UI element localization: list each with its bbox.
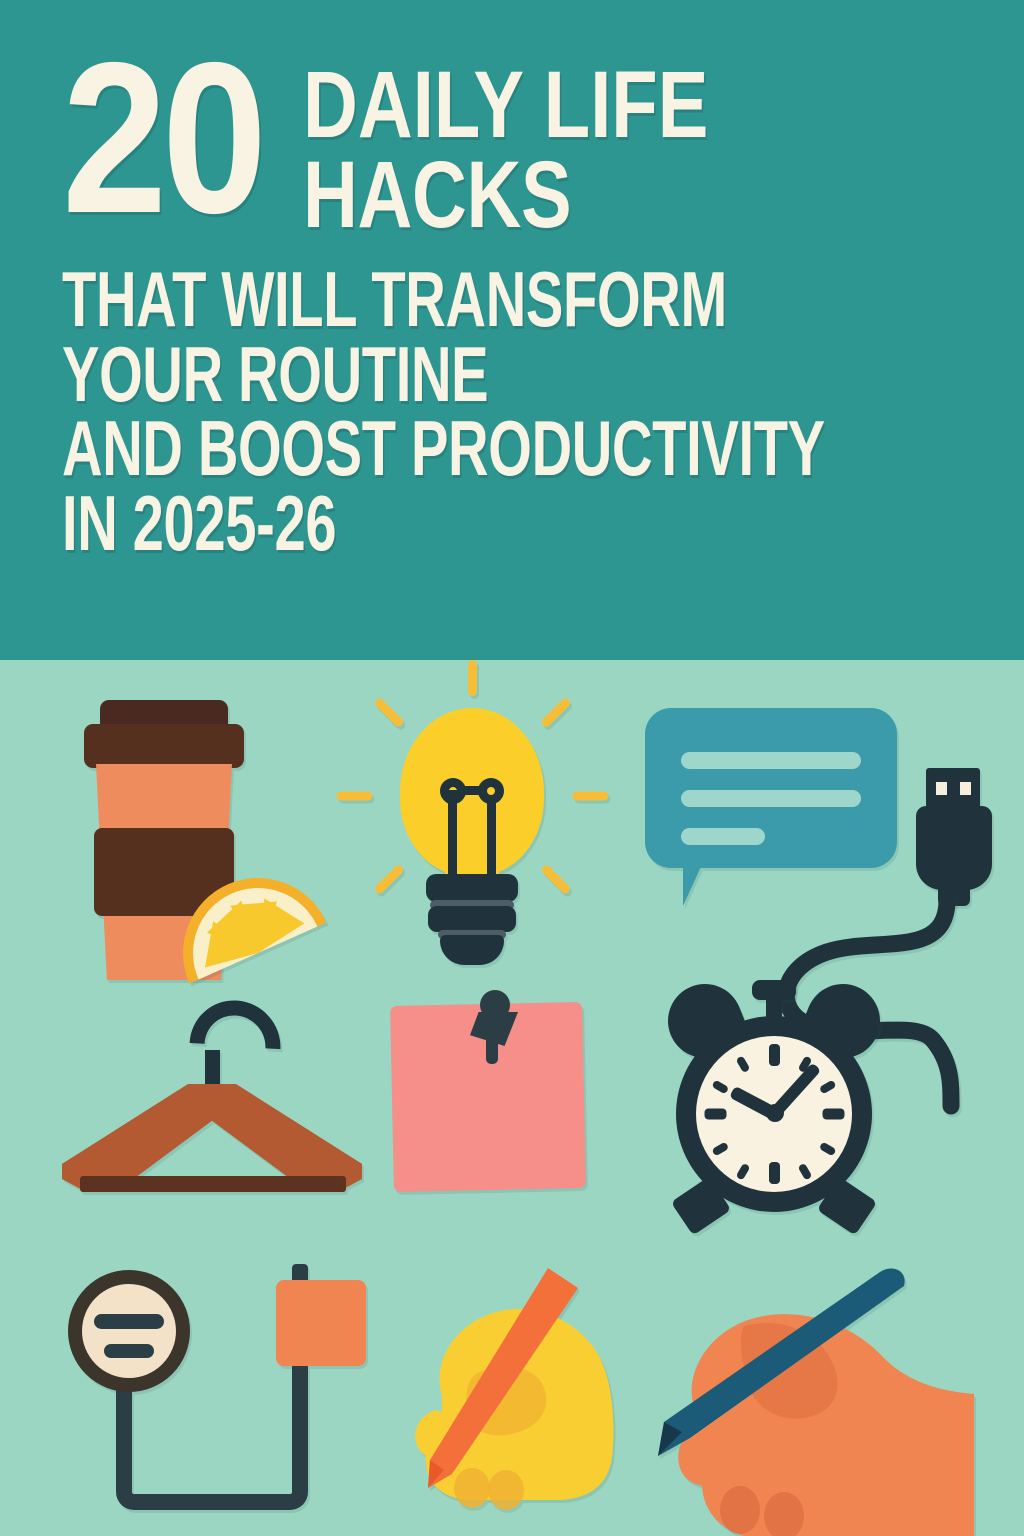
gauge-cable [116, 1382, 308, 1510]
poster-root: 20 DAILY LIFE HACKS THAT WILL TRANSFORM … [0, 0, 1024, 1536]
title-headline-stack: DAILY LIFE HACKS [303, 52, 810, 237]
gauge-dial-bar-short [104, 1344, 154, 1358]
speech-bubble-text-line [681, 828, 765, 845]
title-line-daily-life: DAILY LIFE [303, 64, 708, 148]
clock-tick-10 [711, 1080, 729, 1095]
cup-lid [84, 724, 244, 768]
lemon-slice-icon [183, 850, 348, 980]
bulb-base-tip [440, 935, 504, 965]
bulb-ray [373, 697, 405, 729]
title-line-productivity: AND BOOST PRODUCTIVITY [62, 414, 717, 483]
title-line-year: IN 2025-26 [62, 489, 717, 558]
light-bulb-icon [348, 660, 598, 970]
pushpin-needle [486, 1038, 498, 1064]
title-line-routine: YOUR ROUTINE [62, 340, 717, 409]
hand-finger [720, 1486, 760, 1534]
speech-bubble-tail [683, 858, 735, 906]
bulb-base-ring [428, 906, 516, 932]
hanger-crossbar [80, 1176, 346, 1192]
bulb-ray [337, 792, 373, 801]
speech-bubble-body [645, 708, 897, 868]
bulb-filament-leg-right [487, 800, 496, 878]
clock-tick-7 [736, 1163, 751, 1181]
bulb-ray [573, 792, 609, 801]
usb-contact-pin [936, 782, 947, 795]
gauge-dial [68, 1270, 190, 1392]
bulb-filament-bridge [461, 786, 485, 795]
icon-grid [0, 660, 1024, 1536]
usb-tip [926, 768, 980, 808]
writing-hand-yellow-icon [372, 1262, 662, 1532]
clock-tick-2 [819, 1080, 837, 1095]
clock-tick-8 [711, 1142, 729, 1157]
speech-bubble-icon [645, 708, 905, 918]
title-line-hacks: HACKS [303, 154, 708, 238]
gauge-orange-tag [276, 1280, 366, 1366]
hand-finger [454, 1468, 490, 1508]
clock-tick-11 [736, 1055, 751, 1073]
bulb-ray [373, 864, 405, 896]
clock-tick-5 [798, 1163, 813, 1181]
writing-hand-orange-icon [636, 1260, 976, 1536]
gauge-dial-bar-long [94, 1314, 164, 1329]
clothes-hanger-icon [62, 1000, 362, 1200]
title-line-transform: THAT WILL TRANSFORM [62, 265, 717, 334]
clock-tick-4 [819, 1142, 837, 1157]
speech-bubble-text-line [681, 790, 861, 807]
lemon-rind [159, 854, 327, 984]
bulb-ray [540, 697, 572, 729]
page-title: 20 DAILY LIFE HACKS THAT WILL TRANSFORM … [62, 52, 972, 558]
usb-contact-pin [960, 782, 971, 795]
sticky-note-icon [392, 990, 592, 1200]
clock-center-pivot [766, 1104, 784, 1122]
bulb-ray [468, 660, 477, 696]
bulb-base-collar [426, 874, 518, 902]
alarm-clock-icon [664, 978, 884, 1238]
title-top-row: 20 DAILY LIFE HACKS [62, 52, 972, 237]
bulb-filament-leg-left [448, 800, 457, 878]
header-band: 20 DAILY LIFE HACKS THAT WILL TRANSFORM … [0, 0, 1024, 660]
clock-tick-9 [704, 1109, 726, 1120]
lemon-pith [172, 867, 317, 979]
clock-tick-3 [822, 1109, 844, 1120]
speech-bubble-text-line [681, 752, 861, 769]
title-subheadline: THAT WILL TRANSFORM YOUR ROUTINE AND BOO… [62, 265, 972, 558]
usb-shell [916, 806, 992, 890]
clock-tick-12 [769, 1044, 780, 1066]
hack-count: 20 [62, 52, 262, 224]
hand-finger [488, 1470, 524, 1510]
bulb-ray [540, 864, 572, 896]
clock-tick-6 [769, 1162, 780, 1184]
gauge-tag-icon [68, 1270, 368, 1530]
